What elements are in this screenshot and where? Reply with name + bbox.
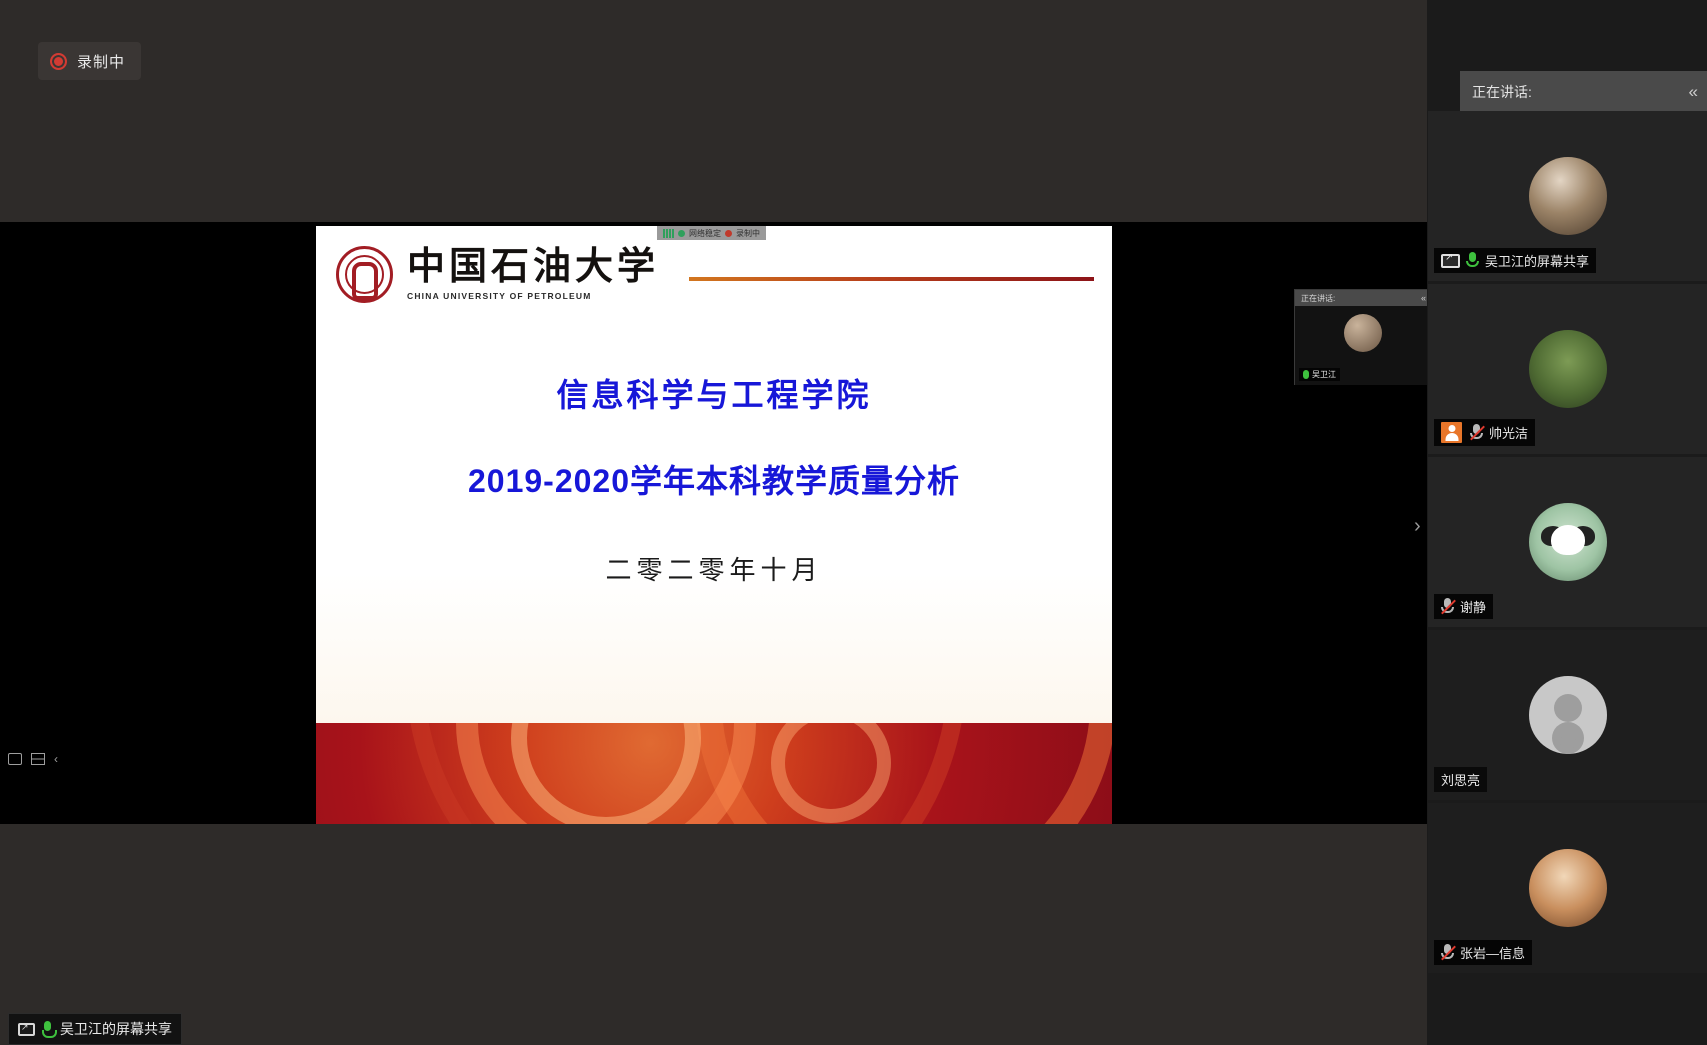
- microphone-muted-icon: [1470, 424, 1483, 442]
- share-status-overlay: 网络稳定 录制中: [657, 226, 766, 240]
- pip-speaking-label: 正在讲话:: [1301, 293, 1335, 304]
- swirl-graphic: [696, 723, 1112, 824]
- print-icon[interactable]: [8, 753, 22, 765]
- signal-bars-icon: [663, 229, 674, 238]
- pip-header: 正在讲话: «: [1295, 290, 1431, 306]
- avatar: [1529, 676, 1607, 754]
- speaking-header: 正在讲话: «: [1460, 71, 1707, 112]
- participant-tile[interactable]: 张岩—信息: [1428, 803, 1707, 976]
- university-name-cn: 中国石油大学: [407, 248, 659, 288]
- participant-name-tag: 张岩—信息: [1434, 940, 1532, 965]
- screen-share-icon: [18, 1023, 35, 1036]
- participant-name: 吴卫江的屏幕共享: [1485, 251, 1589, 270]
- next-slide-arrow-icon[interactable]: ›: [1414, 515, 1421, 538]
- participant-name-tag: 帅光洁: [1434, 419, 1535, 446]
- recording-indicator[interactable]: 录制中: [38, 42, 141, 80]
- participant-name: 谢静: [1460, 597, 1486, 616]
- bottom-letterbox-strip: [0, 824, 1427, 1045]
- avatar: [1529, 849, 1607, 927]
- university-branding: 中国石油大学 CHINA UNIVERSITY OF PETROLEUM: [336, 246, 1094, 303]
- network-status-label: 网络稳定: [689, 228, 721, 239]
- participant-name: 刘思亮: [1441, 770, 1480, 789]
- participant-tile[interactable]: 谢静: [1428, 457, 1707, 630]
- pip-avatar: [1344, 314, 1382, 352]
- brand-divider-rule: [689, 277, 1094, 281]
- pip-collapse-icon[interactable]: «: [1421, 293, 1425, 303]
- slide-title-block: 信息科学与工程学院 2019-2020学年本科教学质量分析 二零二零年十月: [316, 370, 1112, 587]
- network-status-dot-icon: [678, 230, 685, 237]
- record-status-label: 录制中: [736, 228, 760, 239]
- university-wordmark: 中国石油大学 CHINA UNIVERSITY OF PETROLEUM: [407, 248, 659, 301]
- university-name-en: CHINA UNIVERSITY OF PETROLEUM: [407, 291, 659, 301]
- toolbar-collapse-icon[interactable]: ‹: [54, 752, 58, 766]
- avatar: [1529, 330, 1607, 408]
- pip-participant-name: 吴卫江: [1312, 369, 1336, 380]
- pip-video-body: 吴卫江: [1295, 306, 1431, 385]
- participant-name-tag: 刘思亮: [1434, 767, 1487, 792]
- host-badge-icon: [1441, 422, 1462, 443]
- microphone-muted-icon: [1441, 944, 1454, 962]
- slide-date-line: 二零二零年十月: [316, 550, 1112, 587]
- university-seal-icon: [336, 246, 393, 303]
- participant-name-tag: 吴卫江的屏幕共享: [1434, 248, 1596, 273]
- participant-tile[interactable]: 刘思亮: [1428, 630, 1707, 803]
- thumbnail-grid-icon[interactable]: [31, 753, 45, 765]
- speaking-header-label: 正在讲话:: [1472, 82, 1532, 102]
- microphone-muted-icon: [1441, 598, 1454, 616]
- shared-slide[interactable]: 网络稳定 录制中 中国石油大学 CHINA UNIVERSITY OF PETR…: [316, 226, 1112, 824]
- slide-toolbar[interactable]: ‹: [8, 752, 58, 766]
- screen-share-icon: [1441, 254, 1460, 268]
- avatar: [1529, 157, 1607, 235]
- record-status-dot-icon: [725, 230, 732, 237]
- microphone-icon: [1303, 370, 1309, 379]
- record-dot-icon: [50, 53, 67, 70]
- participant-tile[interactable]: 帅光洁: [1428, 284, 1707, 457]
- active-share-name: 吴卫江的屏幕共享: [60, 1019, 172, 1039]
- pip-name-tag: 吴卫江: [1299, 368, 1340, 381]
- participants-sidebar: 正在讲话: « 吴卫江的屏幕共享 帅光洁: [1427, 0, 1707, 1045]
- slide-upper-section: 中国石油大学 CHINA UNIVERSITY OF PETROLEUM 信息科…: [316, 226, 1112, 723]
- participant-name-tag: 谢静: [1434, 594, 1493, 619]
- participant-tiles: 吴卫江的屏幕共享 帅光洁 谢静: [1428, 111, 1707, 976]
- participant-name: 帅光洁: [1489, 423, 1528, 442]
- slide-title-line2: 2019-2020学年本科教学质量分析: [316, 456, 1112, 502]
- microphone-icon: [1466, 252, 1479, 270]
- main-meeting-area: 录制中 网络稳定 录制中 中国石油大学 CHINA UNIVERSITY OF …: [0, 0, 1427, 1045]
- floating-speaker-thumbnail[interactable]: 正在讲话: « 吴卫江: [1294, 289, 1432, 385]
- slide-title-line1: 信息科学与工程学院: [316, 370, 1112, 416]
- recording-label: 录制中: [77, 51, 125, 72]
- microphone-icon: [42, 1021, 53, 1038]
- participant-tile[interactable]: 吴卫江的屏幕共享: [1428, 111, 1707, 284]
- slide-decorative-footer: [316, 723, 1112, 824]
- avatar: [1529, 503, 1607, 581]
- meeting-window: 录制中 网络稳定 录制中 中国石油大学 CHINA UNIVERSITY OF …: [0, 0, 1707, 1045]
- active-share-label: 吴卫江的屏幕共享: [8, 1013, 182, 1045]
- participant-name: 张岩—信息: [1460, 943, 1525, 962]
- top-letterbox-strip: [0, 0, 1427, 222]
- sidebar-collapse-icon[interactable]: «: [1689, 82, 1695, 102]
